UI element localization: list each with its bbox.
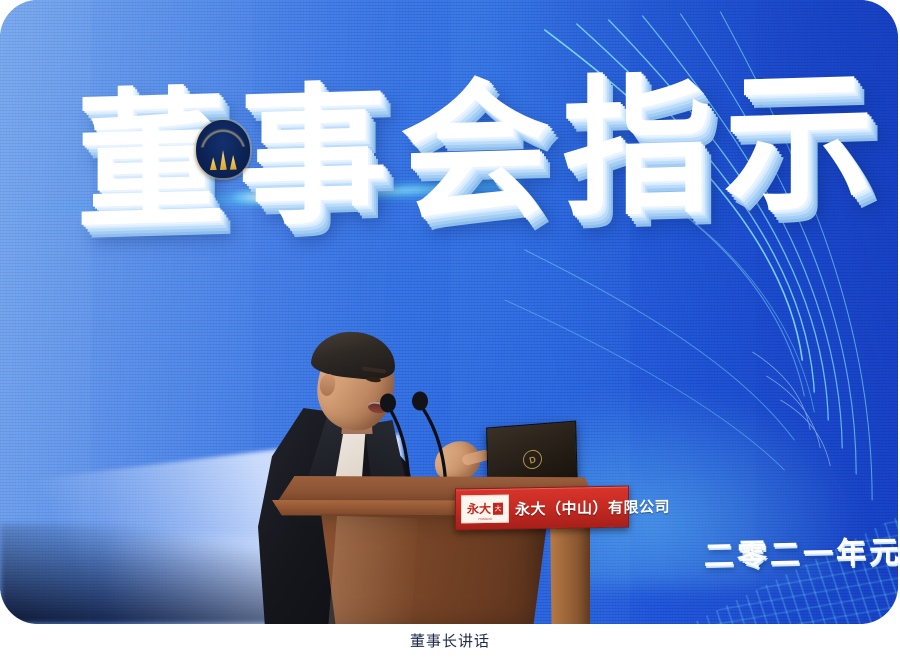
company-logo-text: 永大: [467, 503, 491, 515]
podium-highlight: [328, 516, 418, 624]
photo-caption: 董事长讲话: [0, 630, 900, 651]
conference-photo: 董事会指示 二零二一年元月二十 D: [0, 0, 898, 624]
emblem-arc-text: [196, 125, 250, 148]
podium-emblem-icon: [195, 120, 250, 179]
screen-date-text: 二零二一年元月二十: [704, 525, 898, 575]
company-logo-seal-icon: 大: [493, 503, 503, 515]
company-logo: 永大 大 YONGDA: [461, 495, 509, 524]
dell-logo-icon: D: [521, 447, 544, 471]
microphone-head-right: [412, 392, 428, 411]
podium-nameplate: 永大 大 YONGDA 永大（中山）有限公司: [455, 485, 629, 530]
emblem-towers-icon: [210, 150, 237, 170]
company-name-text: 永大（中山）有限公司: [515, 495, 670, 519]
company-logo-subtext: YONGDA: [462, 517, 508, 522]
microphone-head-left: [380, 394, 396, 413]
